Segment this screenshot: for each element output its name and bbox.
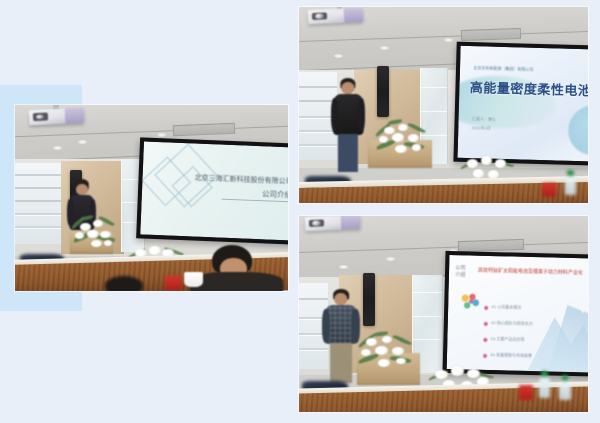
slide-date-line: 2021年3月 bbox=[472, 125, 491, 132]
presenter-legs bbox=[330, 343, 352, 383]
projector-lens-icon bbox=[309, 219, 324, 227]
ceiling-downlight bbox=[157, 133, 166, 137]
white-bloom bbox=[451, 366, 465, 375]
white-bloom bbox=[467, 159, 478, 168]
slide-headline: 高能量密度柔性电池 bbox=[470, 78, 588, 100]
conference-room-scene: 北京光年新能源（集团）有限公司 高能量密度柔性电池 汇报人：博士 2021年3月 bbox=[299, 7, 588, 203]
floral-arrangement bbox=[371, 117, 435, 166]
white-bloom bbox=[366, 338, 377, 346]
window-rail bbox=[15, 226, 61, 228]
white-bloom bbox=[395, 145, 406, 153]
red-item bbox=[519, 385, 533, 401]
wall-speaker bbox=[377, 66, 389, 117]
foliage bbox=[81, 215, 93, 220]
slide-company-introduction: 北京三海汇新科技股份有限公司 公司介绍 bbox=[140, 142, 288, 242]
projection-screen-surface: 北京三海汇新科技股份有限公司 公司介绍 bbox=[140, 142, 288, 242]
slide-business-introduction: 公司 介绍 高效钙钛矿太阳能电池及锂离子动力材料产业化 01 公司基本情况 02… bbox=[446, 255, 588, 373]
projector-lens-icon bbox=[312, 12, 327, 20]
white-bloom bbox=[375, 346, 388, 354]
ceiling-vent bbox=[173, 122, 235, 136]
window-blind-slat bbox=[15, 187, 61, 189]
ceiling-downlight bbox=[334, 54, 343, 58]
ceiling-projector bbox=[28, 107, 83, 125]
slide-bullet: 04 发展规划与市场前景 bbox=[490, 352, 532, 359]
window-blind-slat bbox=[15, 200, 61, 202]
projector-lens-icon bbox=[33, 112, 48, 120]
white-bloom bbox=[91, 240, 102, 247]
white-bloom bbox=[382, 336, 393, 343]
ceiling-vent bbox=[461, 28, 521, 41]
white-bloom bbox=[396, 358, 405, 364]
glass-highlight bbox=[421, 111, 447, 112]
white-bloom bbox=[473, 169, 484, 178]
slide-headline: 高效钙钛矿太阳能电池及锂离子动力材料产业化 bbox=[477, 267, 582, 277]
white-bloom bbox=[149, 246, 161, 254]
slide-subhead: 公司介绍 bbox=[262, 188, 288, 200]
glass-highlight bbox=[421, 87, 447, 88]
presenter-arm bbox=[322, 309, 330, 343]
ceiling-downlight bbox=[386, 257, 395, 261]
projector-body bbox=[344, 8, 363, 23]
white-bloom bbox=[398, 124, 408, 131]
window-with-blinds bbox=[15, 163, 61, 245]
water-bottle bbox=[565, 176, 577, 196]
white-bloom bbox=[100, 231, 110, 238]
projection-screen: 北京光年新能源（集团）有限公司 高能量密度柔性电池 汇报人：博士 2021年3月 bbox=[453, 42, 588, 167]
presenter-head bbox=[76, 184, 88, 195]
projection-screen-surface: 公司 介绍 高效钙钛矿太阳能电池及锂离子动力材料产业化 01 公司基本情况 02… bbox=[446, 255, 588, 373]
white-bloom bbox=[361, 349, 371, 356]
photo-bottom-right: 公司 介绍 高效钙钛矿太阳能电池及锂离子动力材料产业化 01 公司基本情况 02… bbox=[299, 216, 588, 412]
white-bloom bbox=[87, 230, 99, 238]
projector-body bbox=[341, 216, 360, 229]
conference-room-scene: 公司 介绍 高效钙钛矿太阳能电池及锂离子动力材料产业化 01 公司基本情况 02… bbox=[299, 216, 588, 412]
ceiling-projector bbox=[307, 8, 362, 24]
ceiling-vent bbox=[458, 238, 524, 251]
conference-room-scene: 北京三海汇新科技股份有限公司 公司介绍 bbox=[15, 105, 288, 291]
slide-bullet: 02 核心团队与研发实力 bbox=[491, 320, 533, 327]
glass-highlight bbox=[413, 292, 442, 293]
presenter-arm bbox=[331, 98, 339, 132]
projection-screen-surface: 北京光年新能源（集团）有限公司 高能量密度柔性电池 汇报人：博士 2021年3月 bbox=[458, 46, 588, 163]
slide-logo-mark bbox=[459, 292, 480, 311]
foliage bbox=[393, 333, 413, 346]
white-bloom bbox=[392, 133, 404, 141]
slide-presenter-line: 汇报人：博士 bbox=[472, 116, 496, 123]
audience-shoulders bbox=[190, 272, 283, 291]
white-bloom bbox=[408, 134, 419, 142]
red-item bbox=[542, 183, 556, 197]
presenter-legs bbox=[338, 134, 358, 172]
ceiling-projector bbox=[304, 216, 359, 231]
slide-section-badge: 公司 介绍 bbox=[455, 266, 465, 279]
collage-canvas: 北京三海汇新科技股份有限公司 公司介绍 bbox=[0, 0, 600, 423]
window-blind-slat bbox=[15, 174, 61, 176]
white-bloom bbox=[495, 159, 506, 168]
slide-bullet: 01 公司基本情况 bbox=[491, 304, 521, 311]
foliage bbox=[407, 121, 426, 134]
projector-body bbox=[64, 107, 83, 123]
white-bloom bbox=[412, 144, 421, 150]
white-bloom bbox=[481, 156, 492, 165]
slide-globe-decor bbox=[568, 105, 588, 156]
presenter-arm bbox=[358, 98, 366, 132]
white-bloom bbox=[392, 347, 403, 355]
wall-speaker bbox=[363, 273, 375, 326]
slide-flexible-battery-title: 北京光年新能源（集团）有限公司 高能量密度柔性电池 汇报人：博士 2021年3月 bbox=[458, 46, 588, 163]
glass-highlight bbox=[413, 316, 442, 317]
photo-top-right: 北京光年新能源（集团）有限公司 高能量密度柔性电池 汇报人：博士 2021年3月 bbox=[299, 7, 588, 203]
projection-screen: 北京三海汇新科技股份有限公司 公司介绍 bbox=[136, 137, 288, 245]
photo-left: 北京三海汇新科技股份有限公司 公司介绍 bbox=[15, 105, 288, 291]
floral-arrangement bbox=[354, 330, 420, 379]
slide-bullet: 03 主要产品及应用 bbox=[490, 336, 524, 343]
presenter-figure bbox=[331, 78, 366, 172]
white-bloom bbox=[104, 240, 112, 246]
white-bloom bbox=[93, 220, 103, 227]
paper-cup bbox=[184, 272, 203, 287]
ceiling-downlight bbox=[53, 146, 62, 150]
floral-arrangement bbox=[67, 213, 127, 260]
window-rail bbox=[15, 213, 61, 215]
white-bloom bbox=[378, 359, 390, 367]
slide-eyebrow: 北京光年新能源（集团）有限公司 bbox=[473, 65, 533, 73]
water-bottle bbox=[559, 381, 571, 401]
water-bottle bbox=[539, 377, 551, 399]
audience-head bbox=[105, 276, 143, 291]
red-item bbox=[165, 276, 181, 291]
white-bloom bbox=[435, 370, 448, 379]
projection-screen: 公司 介绍 高效钙钛矿太阳能电池及锂离子动力材料产业化 01 公司基本情况 02… bbox=[442, 251, 588, 378]
